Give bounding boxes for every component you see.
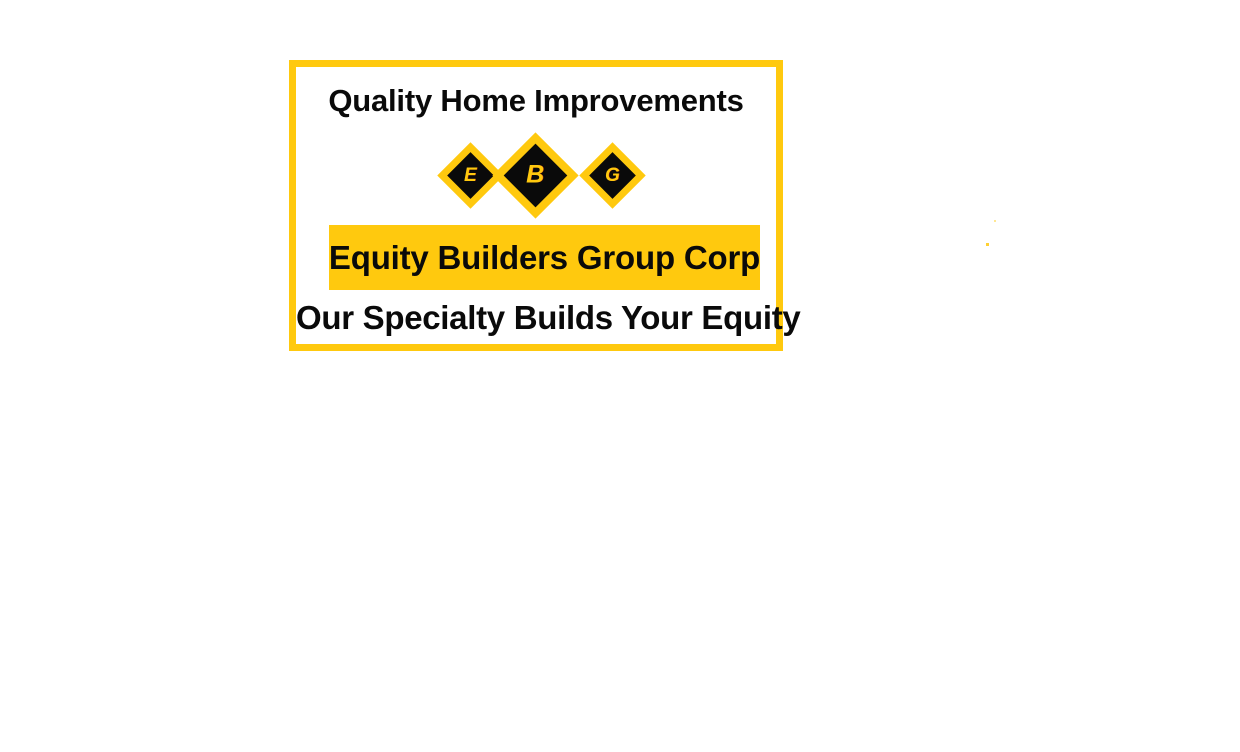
diamond-letter-b: B <box>526 163 544 188</box>
company-name-bar: Equity Builders Group Corp <box>329 225 760 290</box>
tagline-text: Our Specialty Builds Your Equity <box>296 301 776 334</box>
logo-card: Quality Home Improvements E B G Equity B… <box>289 60 783 351</box>
diamond-icon-b: B <box>492 132 578 218</box>
diamond-shape: G <box>579 142 645 208</box>
diamond-letter-g: G <box>605 166 620 185</box>
ebg-diamond-emblem: E B G <box>296 129 776 221</box>
headline-text: Quality Home Improvements <box>296 85 776 116</box>
company-name-text: Equity Builders Group Corp <box>329 241 760 274</box>
scan-speck-icon <box>994 220 996 222</box>
scan-speck-icon <box>986 243 989 246</box>
diamond-letter-e: E <box>464 166 477 185</box>
diamond-icon-g: G <box>579 142 645 208</box>
diamond-shape: B <box>492 132 578 218</box>
